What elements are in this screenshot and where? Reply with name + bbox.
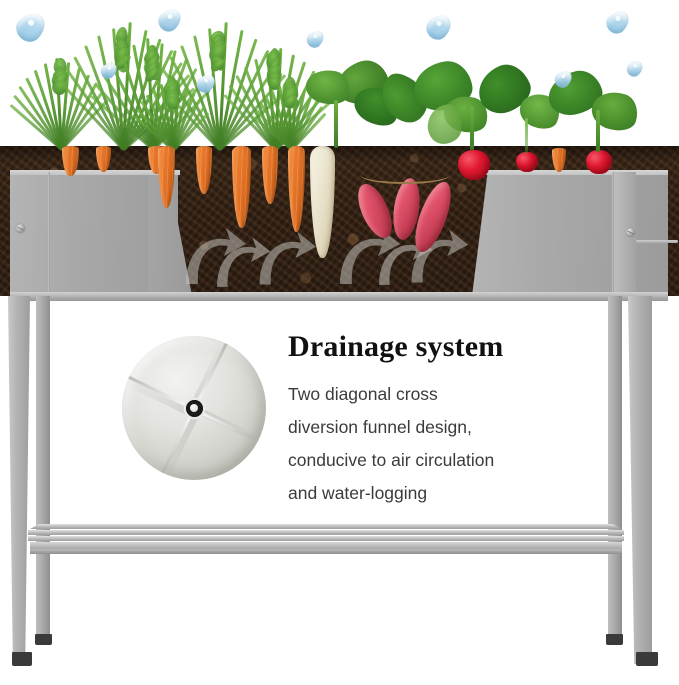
planter-bottom-rail (10, 292, 668, 301)
side-handle-rod[interactable] (636, 240, 678, 243)
plant-stem (334, 100, 338, 148)
sweet-potato-stem (360, 166, 450, 184)
shelf-slat (28, 530, 624, 535)
right-panel-screw (626, 228, 635, 237)
shelf-slat (30, 542, 622, 549)
disc-vane (160, 409, 195, 477)
leg-front-right (628, 296, 652, 664)
water-drop (624, 58, 646, 80)
callout-body-line-2: diversion funnel design, (288, 411, 494, 444)
leg-foot (606, 634, 623, 645)
drainage-disc (122, 336, 266, 480)
water-drop (11, 7, 51, 47)
disc-vane (126, 375, 194, 410)
plant-stem (596, 110, 600, 152)
flow-arrow (252, 226, 318, 292)
leg-foot (636, 652, 658, 666)
drainage-disc-body (122, 336, 266, 480)
leg-front-left (8, 296, 30, 664)
shelf-slat (28, 536, 624, 541)
disc-center-hole (186, 400, 203, 417)
shelf-slat (30, 524, 622, 529)
callout-body-line-1: Two diagonal cross (288, 378, 494, 411)
red-radish (516, 152, 538, 172)
leg-foot (35, 634, 52, 645)
left-panel-screw (16, 224, 25, 233)
leg-foot (12, 652, 32, 666)
plant-stem (525, 118, 528, 154)
right-panel-top-rim (486, 170, 668, 175)
leg-back-left (36, 296, 50, 642)
callout-body: Two diagonal cross diversion funnel desi… (288, 378, 494, 510)
leg-back-right (608, 296, 622, 642)
plant-stem (470, 106, 474, 150)
red-radish (586, 150, 612, 174)
callout-body-line-3: conducive to air circulation (288, 444, 494, 477)
left-panel-seam (48, 172, 50, 296)
callout-headline: Drainage system (288, 330, 503, 364)
disc-vane-shadow (124, 378, 194, 417)
water-drop (422, 10, 456, 44)
right-front-panel (472, 172, 668, 296)
water-drop (602, 6, 633, 37)
callout-body-line-4: and water-logging (288, 477, 494, 510)
carrot-top (146, 80, 198, 150)
shelf-front-rail (30, 549, 622, 554)
disc-vane (193, 408, 261, 443)
disc-vane (193, 341, 228, 409)
product-illustration: Drainage system Two diagonal cross diver… (0, 0, 679, 685)
red-radish (458, 150, 490, 180)
disc-vane-shadow (161, 411, 200, 480)
